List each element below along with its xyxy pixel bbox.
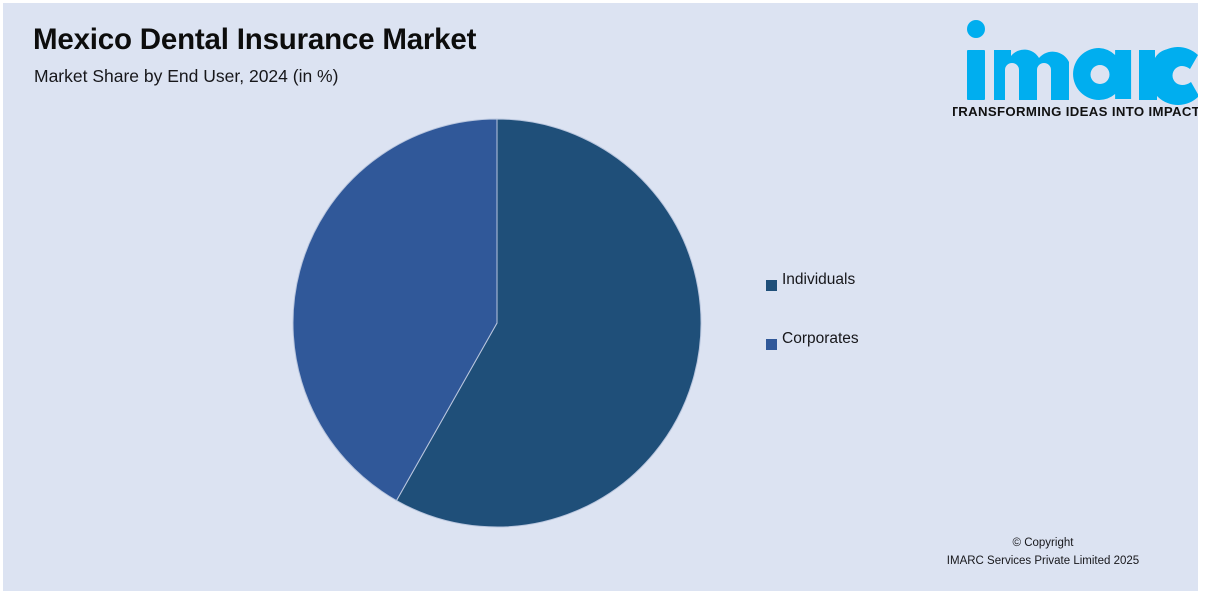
legend-item-label: Corporates	[782, 330, 859, 348]
copyright-line-1: © Copyright	[898, 534, 1188, 552]
page-title: Mexico Dental Insurance Market	[33, 23, 476, 57]
legend-item-corporates[interactable]: Corporates	[765, 330, 965, 389]
copyright-notice: © Copyright IMARC Services Private Limit…	[898, 534, 1188, 570]
chart-subtitle: Market Share by End User, 2024 (in %)	[34, 66, 338, 87]
legend-swatch-icon	[766, 339, 777, 350]
copyright-line-2: IMARC Services Private Limited 2025	[898, 552, 1188, 570]
chart-figure: Mexico Dental Insurance Market Market Sh…	[3, 3, 1198, 591]
legend-item-label: Individuals	[782, 271, 855, 289]
chart-legend: Individuals Corporates	[765, 271, 965, 389]
imarc-logo: TRANSFORMING IDEAS INTO IMPACT	[953, 17, 1198, 123]
logo-dot-icon	[967, 20, 985, 38]
legend-swatch-icon	[766, 280, 777, 291]
legend-item-individuals[interactable]: Individuals	[765, 271, 965, 330]
logo-tagline: TRANSFORMING IDEAS INTO IMPACT	[953, 104, 1198, 119]
pie-chart	[288, 113, 706, 533]
